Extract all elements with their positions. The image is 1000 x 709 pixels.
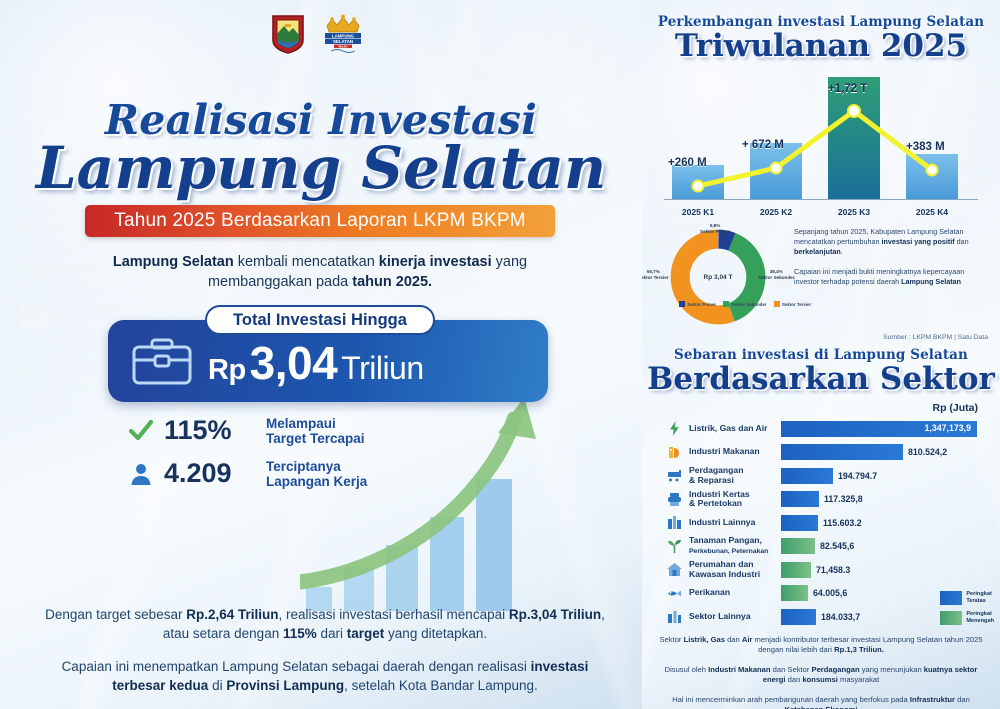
quarterly-section: Perkembangan investasi Lampung Selatan T… bbox=[642, 0, 1000, 221]
legend-label-menengah: Peringkat Menengah bbox=[966, 611, 994, 624]
sector-label-main: Industri Kertas bbox=[689, 489, 750, 499]
right-bottom-text: Sektor Listrik, Gas dan Air menjadi kont… bbox=[642, 635, 1000, 709]
sector-bar bbox=[781, 562, 811, 578]
check-icon bbox=[128, 418, 154, 444]
lampung-selatan-coat-of-arms-icon bbox=[271, 12, 305, 54]
x-tick-k1: 2025 K1 bbox=[669, 207, 727, 217]
table-row: Listrik, Gas dan Air 1,347,173,9 bbox=[666, 417, 1000, 441]
stat-value: 4.209 bbox=[164, 458, 256, 489]
amount-value: 3,04 bbox=[250, 336, 338, 390]
sector-value: 184.033,7 bbox=[821, 612, 860, 622]
currency-symbol: Rp bbox=[208, 354, 246, 387]
left-bottom-text: Dengan target sebesar Rp.2,64 Triliun, r… bbox=[38, 605, 612, 695]
donut-name-primer: Sektor Primer bbox=[700, 229, 730, 234]
food-icon bbox=[666, 444, 683, 461]
sector-bar bbox=[781, 609, 816, 625]
subtitle-ribbon: Tahun 2025 Berdasarkan Laporan LKPM BKPM bbox=[85, 205, 555, 237]
lead-paragraph: Lampung Selatan kembali mencatatkan kine… bbox=[70, 252, 570, 292]
sector-label-main: Industri Makanan bbox=[689, 446, 760, 456]
legend-swatch-menengah bbox=[940, 611, 962, 625]
quarterly-title: Triwulanan 2025 bbox=[642, 29, 1000, 63]
sector-label: Tanaman Pangan, Perkebunan, Peternakan bbox=[689, 536, 781, 556]
sector-bar bbox=[781, 491, 819, 507]
svg-text:SELATAN: SELATAN bbox=[333, 39, 353, 44]
sector-bar bbox=[781, 468, 833, 484]
legend-swatch-tersier bbox=[774, 301, 780, 307]
sector-label: Industri Kertas & Pertetokan bbox=[689, 490, 781, 509]
sector-label-main: Tanaman Pangan, bbox=[689, 535, 762, 545]
shop-cart-icon bbox=[666, 467, 683, 484]
donut-paragraph-2: Capaian ini menjadi bukti meningkatnya k… bbox=[794, 267, 990, 287]
svg-text:MAJU: MAJU bbox=[339, 44, 349, 48]
sector-label: Industri Makanan bbox=[689, 447, 781, 457]
stat-row: 115% Melampaui Target Tercapai bbox=[128, 415, 367, 446]
total-investment-badge: Total Investasi Hingga bbox=[205, 305, 435, 335]
right-paragraph-1: Sektor Listrik, Gas dan Air menjadi kont… bbox=[656, 635, 986, 656]
factory-icon bbox=[666, 514, 683, 531]
sector-label: Industri Lainnya bbox=[689, 518, 781, 528]
stat-label: Melampaui Target Tercapai bbox=[266, 416, 365, 446]
sector-group-section: Rp 3,04 T 5,8% Sektor Primer 38,4% Sekto… bbox=[642, 225, 1000, 330]
svg-text:LAMPUNG: LAMPUNG bbox=[332, 33, 355, 38]
sector-bar-group: 117.325,8 bbox=[781, 491, 863, 507]
legend-label-line-2: Teratas bbox=[966, 598, 986, 604]
bar-value-label-k2: + 672 M bbox=[742, 139, 784, 151]
sector-bar-chart: Listrik, Gas dan Air 1,347,173,9 Industr… bbox=[642, 417, 1000, 629]
legend-label-primer: Sektor Primer bbox=[687, 302, 716, 307]
logo-row: LAMPUNG SELATAN MAJU bbox=[0, 12, 642, 54]
sector-legend-item-mid: Peringkat Menengah bbox=[940, 611, 994, 625]
sector-label-main: Listrik, Gas dan Air bbox=[689, 423, 767, 433]
sector-bar bbox=[781, 515, 818, 531]
sector-bar: 1,347,173,9 bbox=[781, 421, 977, 437]
sector-label: Perikanan bbox=[689, 588, 781, 598]
donut-legend: Sektor Primer Sektor Sekunder Sektor Ter… bbox=[660, 301, 830, 307]
sector-label-sub: Kawasan Industri bbox=[689, 569, 760, 579]
legend-label-tersier: Sektor Tersier bbox=[782, 302, 811, 307]
donut-pct-tersier: 55,7% bbox=[647, 269, 660, 274]
donut-label-sekunder: 38,4% Sektor Sekunder bbox=[758, 269, 795, 281]
infographic-poster: LAMPUNG SELATAN MAJU Realisasi Investasi… bbox=[0, 0, 1000, 709]
sector-label-sub: Perkebunan, Peternakan bbox=[689, 548, 768, 555]
stats-list: 115% Melampaui Target Tercapai 4.209 Ter… bbox=[128, 415, 367, 501]
sector-bar-group: 64.005,6 bbox=[781, 585, 847, 601]
sector-label: Perdagangan & Reparasi bbox=[689, 466, 781, 485]
table-row: Industri Lainnya 115.603.2 bbox=[666, 511, 1000, 535]
bar-value-label-k3: +1,72 T bbox=[828, 83, 867, 95]
sector-bar-group: 115.603.2 bbox=[781, 515, 862, 531]
sector-unit-label: Rp (Juta) bbox=[642, 402, 1000, 414]
briefcase-icon bbox=[130, 335, 194, 387]
x-tick-k4: 2025 K4 bbox=[903, 207, 961, 217]
legend-label-line-1: Peringkat bbox=[966, 611, 992, 617]
sector-label-main: Perumahan dan bbox=[689, 559, 753, 569]
legend-swatch-primer bbox=[679, 301, 685, 307]
fish-icon bbox=[666, 585, 683, 602]
x-tick-k3: 2025 K3 bbox=[825, 207, 883, 217]
sector-label-main: Industri Lainnya bbox=[689, 517, 755, 527]
donut-pct-sekunder: 38,4% bbox=[770, 269, 783, 274]
left-paragraph-2: Capaian ini menempatkan Lampung Selatan … bbox=[38, 657, 612, 695]
total-investment-amount: Rp 3,04 Triliun bbox=[208, 336, 424, 390]
sector-label: Perumahan dan Kawasan Industri bbox=[689, 560, 781, 579]
sector-value: 71,458.3 bbox=[816, 565, 850, 575]
sector-bar-group: 71,458.3 bbox=[781, 562, 850, 578]
page-title: Realisasi Investasi Lampung Selatan bbox=[0, 98, 642, 198]
legend-label-line-1: Peringkat bbox=[966, 591, 992, 597]
donut-pct-primer: 5,8% bbox=[710, 223, 720, 228]
donut-legend-item: Sektor Tersier bbox=[774, 301, 812, 307]
lampung-selatan-maju-logo-icon: LAMPUNG SELATAN MAJU bbox=[315, 13, 371, 53]
donut-legend-item: Sektor Sekunder bbox=[723, 301, 766, 307]
plant-icon bbox=[666, 538, 683, 555]
sector-bar bbox=[781, 538, 815, 554]
right-paragraph-3: Hal ini mencerminkan arah pembangunan da… bbox=[656, 695, 986, 709]
legend-label-sekunder: Sektor Sekunder bbox=[732, 302, 767, 307]
bar-value-label-k4: +383 M bbox=[906, 141, 945, 153]
sector-value: 810.524,2 bbox=[908, 447, 947, 457]
donut-paragraph-1: Sepanjang tahun 2025, Kabupaten Lampung … bbox=[794, 227, 990, 258]
donut-side-text: Sepanjang tahun 2025, Kabupaten Lampung … bbox=[794, 227, 990, 287]
sector-value: 117.325,8 bbox=[824, 494, 863, 504]
sector-legend-item-top: Peringkat Teratas bbox=[940, 591, 994, 605]
lightning-icon bbox=[666, 420, 683, 437]
sector-legend: Peringkat Teratas Peringkat Menengah bbox=[940, 591, 994, 625]
x-tick-k2: 2025 K2 bbox=[747, 207, 805, 217]
sector-label: Sektor Lainnya bbox=[689, 612, 781, 622]
legend-swatch-teratas bbox=[940, 591, 962, 605]
sector-label-sub: & Reparasi bbox=[689, 475, 734, 485]
paper-print-icon bbox=[666, 491, 683, 508]
sector-label-main: Sektor Lainnya bbox=[689, 611, 751, 621]
donut-label-primer: 5,8% Sektor Primer bbox=[700, 223, 730, 235]
left-panel: LAMPUNG SELATAN MAJU Realisasi Investasi… bbox=[0, 0, 642, 709]
table-row: Industri Kertas & Pertetokan 117.325,8 bbox=[666, 488, 1000, 512]
sector-label-main: Perdagangan bbox=[689, 465, 743, 475]
sector-bar-group: 194.794.7 bbox=[781, 468, 877, 484]
donut-label-tersier: 55,7% Sektor Tersier bbox=[642, 269, 669, 281]
stat-value: 115% bbox=[164, 415, 256, 446]
stat-label: Terciptanya Lapangan Kerja bbox=[266, 459, 367, 489]
sector-title: Berdasarkan Sektor bbox=[642, 362, 1000, 396]
table-row: Tanaman Pangan, Perkebunan, Peternakan 8… bbox=[666, 535, 1000, 559]
sector-label-main: Perikanan bbox=[689, 587, 730, 597]
bar-value-label-k1: +260 M bbox=[668, 157, 707, 169]
legend-swatch-sekunder bbox=[723, 301, 729, 307]
donut-legend-item: Sektor Primer bbox=[679, 301, 716, 307]
right-paragraph-2: Disusul oleh Industri Makanan dan Sektor… bbox=[656, 665, 986, 686]
stat-row: 4.209 Terciptanya Lapangan Kerja bbox=[128, 458, 367, 489]
sector-bar-group: 184.033,7 bbox=[781, 609, 860, 625]
donut-center-value: Rp 3,04 T bbox=[704, 274, 733, 281]
legend-label-line-2: Menengah bbox=[966, 618, 994, 624]
left-paragraph-1: Dengan target sebesar Rp.2,64 Triliun, r… bbox=[38, 605, 612, 643]
donut-name-tersier: Sektor Tersier bbox=[642, 275, 669, 280]
donut-center-label: Rp 3,04 T bbox=[668, 227, 768, 327]
sector-bar-group: 1,347,173,9 bbox=[781, 421, 977, 437]
legend-label-teratas: Peringkat Teratas bbox=[966, 591, 992, 604]
sector-value: 194.794.7 bbox=[838, 471, 877, 481]
sector-value: 115.603.2 bbox=[823, 518, 862, 528]
table-row: Perdagangan & Reparasi 194.794.7 bbox=[666, 464, 1000, 488]
sector-bar bbox=[781, 444, 903, 460]
sector-value: 82.545,6 bbox=[820, 541, 854, 551]
bokeh-dot bbox=[18, 300, 52, 334]
person-icon bbox=[128, 461, 154, 487]
bokeh-dot bbox=[600, 250, 628, 278]
sector-bar-group: 810.524,2 bbox=[781, 444, 947, 460]
right-panel: Perkembangan investasi Lampung Selatan T… bbox=[642, 0, 1000, 709]
stat-label-line-2: Lapangan Kerja bbox=[266, 474, 367, 489]
sector-label: Listrik, Gas dan Air bbox=[689, 424, 781, 434]
sector-value: 64.005,6 bbox=[813, 588, 847, 598]
stat-label-line-2: Target Tercapai bbox=[266, 431, 365, 446]
donut-name-sekunder: Sektor Sekunder bbox=[758, 275, 795, 280]
sector-value: 1,347,173,9 bbox=[925, 423, 971, 433]
bars-icon bbox=[666, 608, 683, 625]
table-row: Industri Makanan 810.524,2 bbox=[666, 441, 1000, 465]
quarterly-bar-chart: +260 M + 672 M +1,72 T +383 M 2025 K1 20… bbox=[656, 73, 986, 221]
sector-label-sub: & Pertetokan bbox=[689, 498, 742, 508]
source-top: Sumber : LKPM BKPM | Satu Data bbox=[642, 334, 1000, 341]
stat-label-line-1: Terciptanya bbox=[266, 459, 341, 474]
sector-bar bbox=[781, 585, 808, 601]
sector-bar-group: 82.545,6 bbox=[781, 538, 854, 554]
sector-section: Sebaran investasi di Lampung Selatan Ber… bbox=[642, 347, 1000, 629]
amount-unit: Triliun bbox=[341, 350, 423, 387]
stat-label-line-1: Melampaui bbox=[266, 416, 336, 431]
title-line-2: Lampung Selatan bbox=[0, 138, 642, 198]
table-row: Perumahan dan Kawasan Industri 71,458.3 bbox=[666, 558, 1000, 582]
house-icon bbox=[666, 561, 683, 578]
